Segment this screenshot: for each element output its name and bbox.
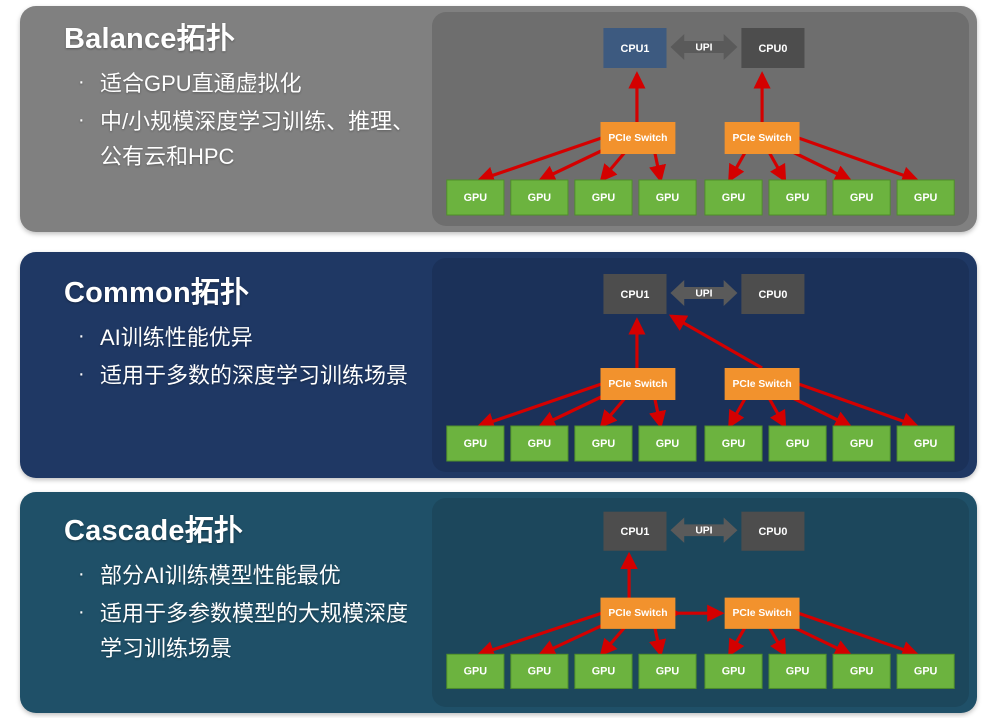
cpu0-label: CPU0	[758, 289, 787, 301]
list-item: · 中/小规模深度学习训练、推理、公有云和HPC	[78, 104, 418, 175]
gpu-label: GPU	[464, 192, 488, 204]
link-switch-right-gpu-6	[769, 627, 785, 654]
gpu-label: GPU	[786, 192, 810, 204]
list-item: · AI训练性能优异	[78, 320, 418, 356]
gpu-label: GPU	[786, 666, 810, 678]
link-switch-right-gpu-6	[769, 398, 785, 426]
gpu-label: GPU	[850, 192, 874, 204]
link-switch-right-gpu-6	[769, 152, 785, 180]
topology-svg: UPI CPU1 CPU0 PCIe Switch PCIe Switch GP…	[432, 258, 969, 472]
link-switch-right-gpu-8	[799, 384, 917, 426]
link-switch-left-gpu-4	[655, 627, 661, 654]
gpu-label: GPU	[722, 192, 746, 204]
bullet-text: 中/小规模深度学习训练、推理、公有云和HPC	[100, 104, 418, 175]
link-switch-left-gpu-4	[655, 152, 661, 180]
bullet-text: 适用于多参数模型的大规模深度学习训练场景	[100, 596, 418, 667]
link-switch-left-gpu-3	[601, 398, 625, 426]
gpu-label: GPU	[528, 666, 552, 678]
bullet-marker-icon: ·	[78, 596, 100, 628]
pcie-switch-left-label: PCIe Switch	[608, 608, 667, 619]
link-switch-right-gpu-8	[799, 613, 917, 654]
topology-svg: UPI CPU1 CPU0 PCIe Switch PCIe Switch GP…	[432, 12, 969, 226]
panel-text-column: Cascade拓扑 · 部分AI训练模型性能最优 · 适用于多参数模型的大规模深…	[20, 492, 432, 713]
pcie-switch-left-label: PCIe Switch	[608, 379, 667, 390]
gpu-label: GPU	[914, 192, 938, 204]
list-item: · 适用于多数的深度学习训练场景	[78, 358, 418, 394]
bullet-marker-icon: ·	[78, 104, 100, 136]
topology-panel-common: Common拓扑 · AI训练性能优异 · 适用于多数的深度学习训练场景	[20, 252, 977, 478]
gpu-label: GPU	[656, 438, 680, 450]
panel-text-column: Common拓扑 · AI训练性能优异 · 适用于多数的深度学习训练场景	[20, 252, 432, 478]
gpu-label: GPU	[592, 666, 616, 678]
list-item: · 适合GPU直通虚拟化	[78, 66, 418, 102]
bullet-list: · 部分AI训练模型性能最优 · 适用于多参数模型的大规模深度学习训练场景	[64, 558, 418, 667]
topology-diagram-common: UPI CPU1 CPU0 PCIe Switch PCIe Switch GP…	[432, 258, 969, 472]
bullet-text: 部分AI训练模型性能最优	[100, 558, 418, 594]
bullet-text: 适合GPU直通虚拟化	[100, 66, 418, 102]
pcie-switch-right-label: PCIe Switch	[733, 379, 792, 390]
list-item: · 部分AI训练模型性能最优	[78, 558, 418, 594]
bullet-marker-icon: ·	[78, 66, 100, 98]
gpu-label: GPU	[464, 666, 488, 678]
link-switch-left-gpu-2	[540, 394, 607, 426]
list-item: · 适用于多参数模型的大规模深度学习训练场景	[78, 596, 418, 667]
link-switch-right-gpu-5	[730, 152, 746, 180]
link-switch-right-gpu-5	[730, 627, 746, 654]
bullet-text: 适用于多数的深度学习训练场景	[100, 358, 418, 394]
link-switch-left-gpu-4	[655, 398, 661, 426]
topology-panel-cascade: Cascade拓扑 · 部分AI训练模型性能最优 · 适用于多参数模型的大规模深…	[20, 492, 977, 713]
bullet-marker-icon: ·	[78, 320, 100, 352]
gpu-label: GPU	[592, 192, 616, 204]
gpu-label: GPU	[786, 438, 810, 450]
link-switch-left-gpu-2	[540, 148, 607, 180]
bullet-marker-icon: ·	[78, 358, 100, 390]
upi-label: UPI	[695, 525, 712, 536]
link-switch-right-gpu-8	[799, 138, 917, 180]
bullet-list: · 适合GPU直通虚拟化 · 中/小规模深度学习训练、推理、公有云和HPC	[64, 66, 418, 175]
bullet-marker-icon: ·	[78, 558, 100, 590]
link-switch-left-gpu-3	[601, 627, 625, 654]
gpu-label: GPU	[914, 666, 938, 678]
cpu0-label: CPU0	[758, 43, 787, 55]
bullet-text: AI训练性能优异	[100, 320, 418, 356]
gpu-label: GPU	[850, 666, 874, 678]
upi-label: UPI	[695, 42, 712, 53]
cpu1-label: CPU1	[621, 526, 650, 538]
bullet-list: · AI训练性能优异 · 适用于多数的深度学习训练场景	[64, 320, 418, 393]
panel-text-column: Balance拓扑 · 适合GPU直通虚拟化 · 中/小规模深度学习训练、推理、…	[20, 6, 432, 232]
gpu-label: GPU	[464, 438, 488, 450]
cpu1-label: CPU1	[621, 289, 650, 301]
topology-diagram-cascade: UPI CPU1 CPU0 PCIe Switch PCIe Switch GP…	[432, 498, 969, 707]
link-switch-left-gpu-2	[540, 623, 607, 654]
pcie-switch-right-label: PCIe Switch	[732, 608, 791, 619]
pcie-switch-right-label: PCIe Switch	[733, 133, 792, 144]
gpu-label: GPU	[592, 438, 616, 450]
gpu-label: GPU	[656, 666, 680, 678]
topology-svg: UPI CPU1 CPU0 PCIe Switch PCIe Switch GP…	[432, 498, 969, 707]
gpu-label: GPU	[722, 666, 746, 678]
topology-diagram-balance: UPI CPU1 CPU0 PCIe Switch PCIe Switch GP…	[432, 12, 969, 226]
page-title: Balance拓扑	[64, 24, 418, 56]
link-switch-left-gpu-3	[601, 152, 625, 180]
gpu-label: GPU	[528, 192, 552, 204]
cpu0-label: CPU0	[758, 526, 787, 538]
gpu-label: GPU	[722, 438, 746, 450]
upi-label: UPI	[695, 288, 712, 299]
link-cpu1-switch-right	[671, 316, 762, 368]
gpu-label: GPU	[914, 438, 938, 450]
cpu1-label: CPU1	[621, 43, 650, 55]
link-switch-right-gpu-5	[730, 398, 746, 426]
gpu-label: GPU	[528, 438, 552, 450]
pcie-switch-left-label: PCIe Switch	[608, 133, 667, 144]
gpu-label: GPU	[850, 438, 874, 450]
page-title: Common拓扑	[64, 278, 418, 310]
page-title: Cascade拓扑	[64, 516, 418, 548]
topology-panel-balance: Balance拓扑 · 适合GPU直通虚拟化 · 中/小规模深度学习训练、推理、…	[20, 6, 977, 232]
gpu-label: GPU	[656, 192, 680, 204]
